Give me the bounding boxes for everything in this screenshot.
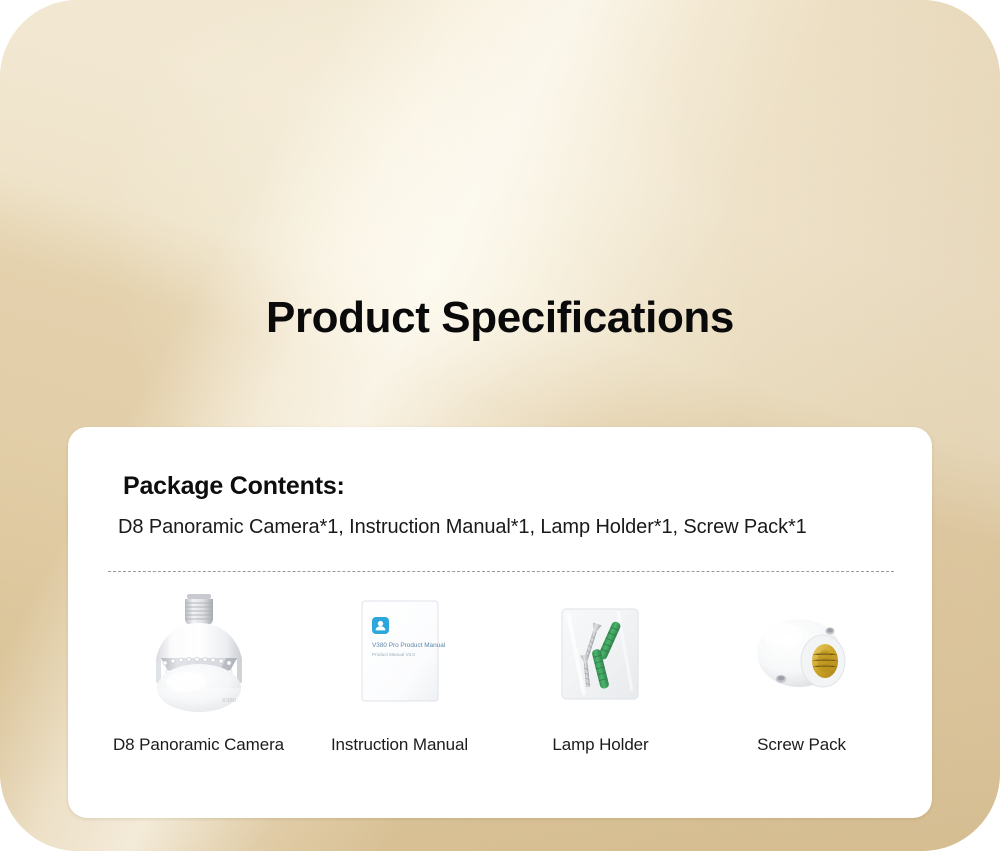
package-item: Screw Pack: [701, 589, 902, 755]
page-title: Product Specifications: [0, 293, 1000, 343]
section-title: Package Contents:: [123, 472, 345, 501]
manual-booklet-icon: V380 Pro Product Manual Product Manual V…: [325, 589, 475, 719]
item-label: D8 Panoramic Camera: [113, 735, 284, 755]
screw-bag-icon: [526, 589, 676, 719]
manual-cover-title: V380 Pro Product Manual: [372, 642, 445, 649]
package-items-row: V380 D8 Panoramic Camera: [98, 589, 902, 755]
package-contents-card: Package Contents: D8 Panoramic Camera*1,…: [68, 427, 932, 818]
package-item: V380 D8 Panoramic Camera: [98, 589, 299, 755]
item-label: Instruction Manual: [331, 735, 468, 755]
package-contents-text: D8 Panoramic Camera*1, Instruction Manua…: [118, 516, 807, 539]
item-label: Lamp Holder: [552, 735, 648, 755]
lamp-socket-icon: [727, 589, 877, 719]
package-item: V380 Pro Product Manual Product Manual V…: [299, 589, 500, 755]
product-specifications-page: Product Specifications Package Contents:…: [0, 0, 1000, 851]
manual-cover-subtitle: Product Manual V3.0: [372, 652, 415, 657]
divider: [108, 571, 894, 572]
package-item: Lamp Holder: [500, 589, 701, 755]
bulb-camera-icon: V380: [124, 589, 274, 719]
item-label: Screw Pack: [757, 735, 846, 755]
svg-text:V380: V380: [222, 698, 237, 704]
